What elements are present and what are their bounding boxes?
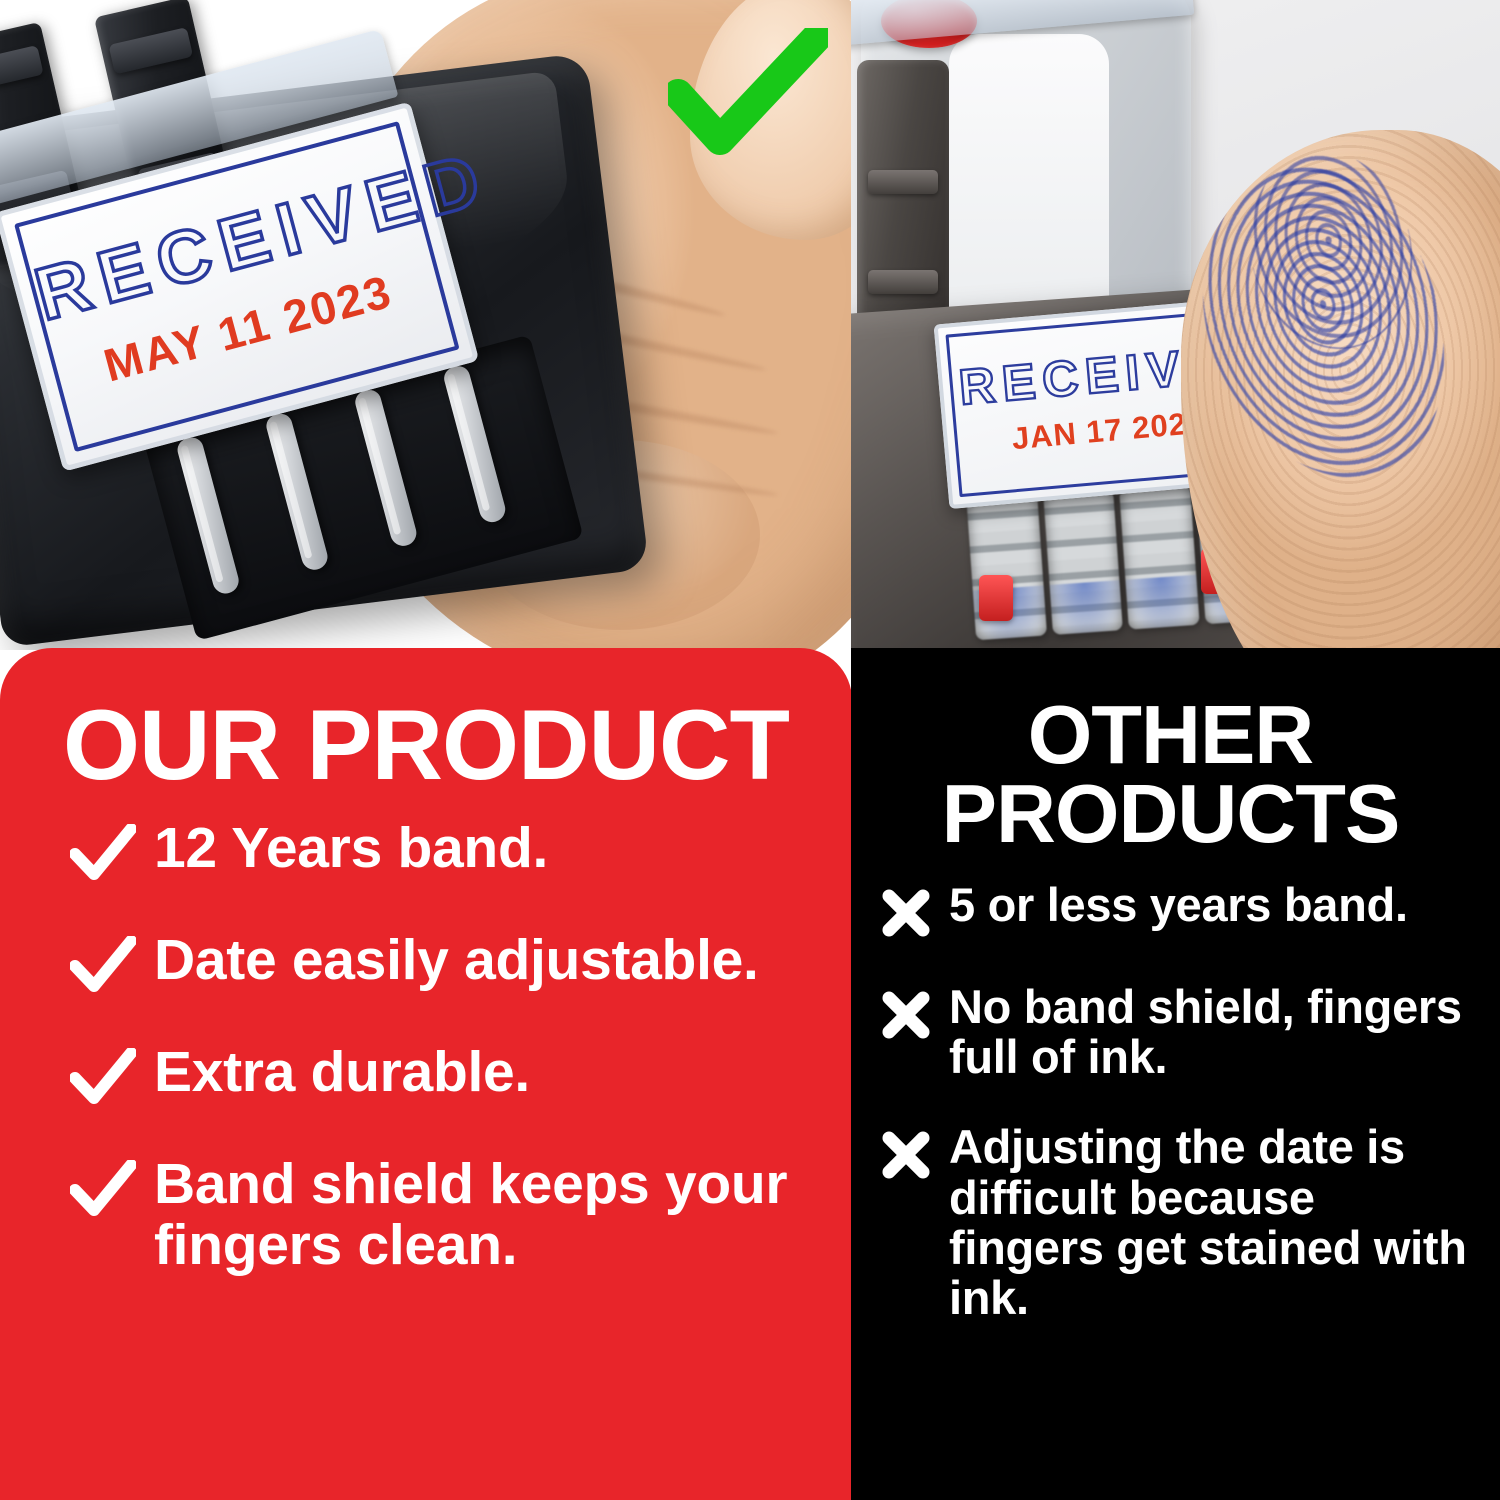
- list-item-label: Date easily adjustable.: [154, 930, 759, 991]
- check-icon: [70, 1154, 136, 1222]
- x-icon: [881, 880, 931, 942]
- other-products-bullet-list: 5 or less years band. No band shield, fi…: [867, 880, 1474, 1324]
- infographic-root: RECEIVED MAY 11 2023: [0, 0, 1500, 1500]
- band-shield-tab[interactable]: [175, 435, 242, 596]
- check-icon: [70, 818, 136, 886]
- list-item: Date easily adjustable.: [34, 930, 818, 998]
- product-photo-others: RECEIVED JAN 17 2025: [851, 0, 1500, 650]
- list-item: 5 or less years band.: [867, 880, 1474, 942]
- check-icon: [70, 930, 136, 998]
- band-shield-tab[interactable]: [442, 364, 509, 525]
- self-inking-dater-body: RECEIVED MAY 11 2023: [0, 52, 649, 647]
- band-shield-tab[interactable]: [264, 411, 331, 572]
- list-item-label: 5 or less years band.: [949, 880, 1408, 930]
- photo-comparison-row: RECEIVED MAY 11 2023: [0, 0, 1500, 650]
- red-wheel-tab[interactable]: [979, 575, 1013, 621]
- list-item: Adjusting the date is difficult because …: [867, 1122, 1474, 1323]
- handle-opening: [949, 34, 1109, 324]
- feature-comparison-panels: OUR PRODUCT 12 Years band. Date easily a…: [0, 648, 1500, 1500]
- our-product-bullet-list: 12 Years band. Date easily adjustable. E…: [34, 818, 818, 1276]
- check-badge-icon: [668, 28, 828, 158]
- band-shield-tab[interactable]: [353, 388, 420, 549]
- ink-stained-thumb: [1181, 130, 1500, 650]
- list-item: Extra durable.: [34, 1042, 818, 1110]
- green-check-badge: [668, 28, 828, 158]
- list-item-label: Extra durable.: [154, 1042, 530, 1103]
- product-photo-ours: RECEIVED MAY 11 2023: [0, 0, 851, 650]
- list-item: No band shield, fingers full of ink.: [867, 982, 1474, 1083]
- list-item: 12 Years band.: [34, 818, 818, 886]
- other-products-title: OTHER PRODUCTS: [867, 696, 1474, 854]
- list-item-label: 12 Years band.: [154, 818, 548, 879]
- list-item-label: Adjusting the date is difficult because …: [949, 1122, 1474, 1323]
- date-wheel[interactable]: [1043, 490, 1123, 635]
- list-item-label: Band shield keeps your fingers clean.: [154, 1154, 818, 1276]
- x-icon: [881, 982, 931, 1044]
- our-product-panel: OUR PRODUCT 12 Years band. Date easily a…: [0, 648, 852, 1500]
- other-products-panel: OTHER PRODUCTS 5 or less years band. No …: [851, 648, 1500, 1500]
- our-product-title: OUR PRODUCT: [34, 698, 818, 792]
- list-item-label: No band shield, fingers full of ink.: [949, 982, 1474, 1083]
- x-icon: [881, 1122, 931, 1184]
- list-item: Band shield keeps your fingers clean.: [34, 1154, 818, 1276]
- check-icon: [70, 1042, 136, 1110]
